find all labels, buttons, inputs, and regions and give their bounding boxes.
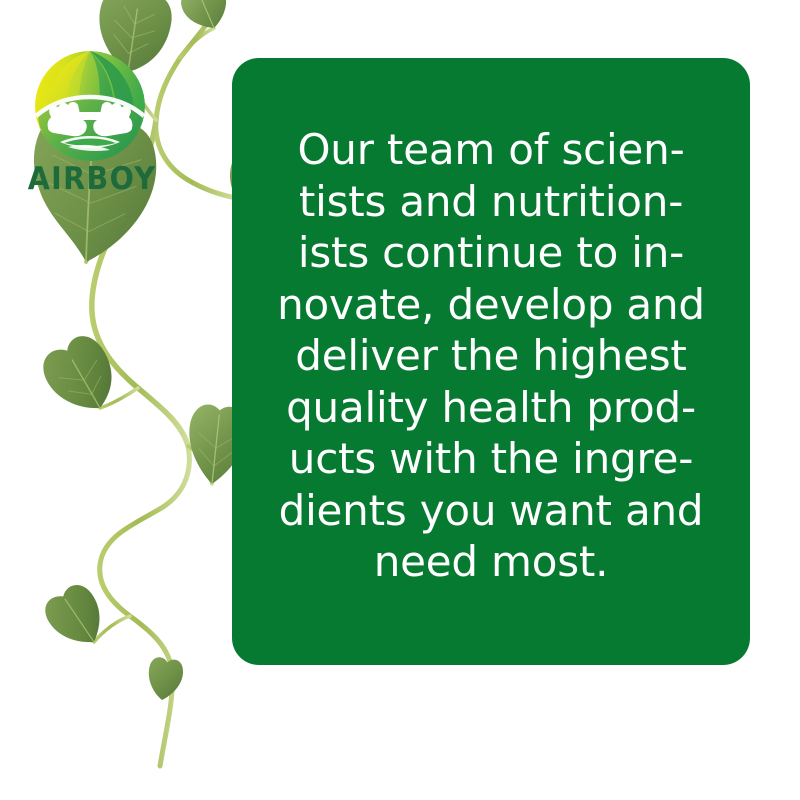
quote-text: Our team of scien- tists and nutrition- … <box>262 124 720 588</box>
airboy-logo-icon <box>34 50 146 162</box>
leaf-bottom <box>145 656 185 702</box>
quote-card: Our team of scien- tists and nutrition- … <box>232 58 750 665</box>
leaf-top-right <box>178 0 234 35</box>
leaf-lower-left <box>39 578 115 656</box>
promo-graphic-canvas: AIRBOY Our team of scien- tists and nutr… <box>0 0 800 800</box>
barbell-shape <box>64 112 116 120</box>
brand-wordmark: AIRBOY <box>18 162 165 196</box>
leaf-mid-left <box>35 329 126 424</box>
brand-lockup: AIRBOY <box>12 50 172 205</box>
